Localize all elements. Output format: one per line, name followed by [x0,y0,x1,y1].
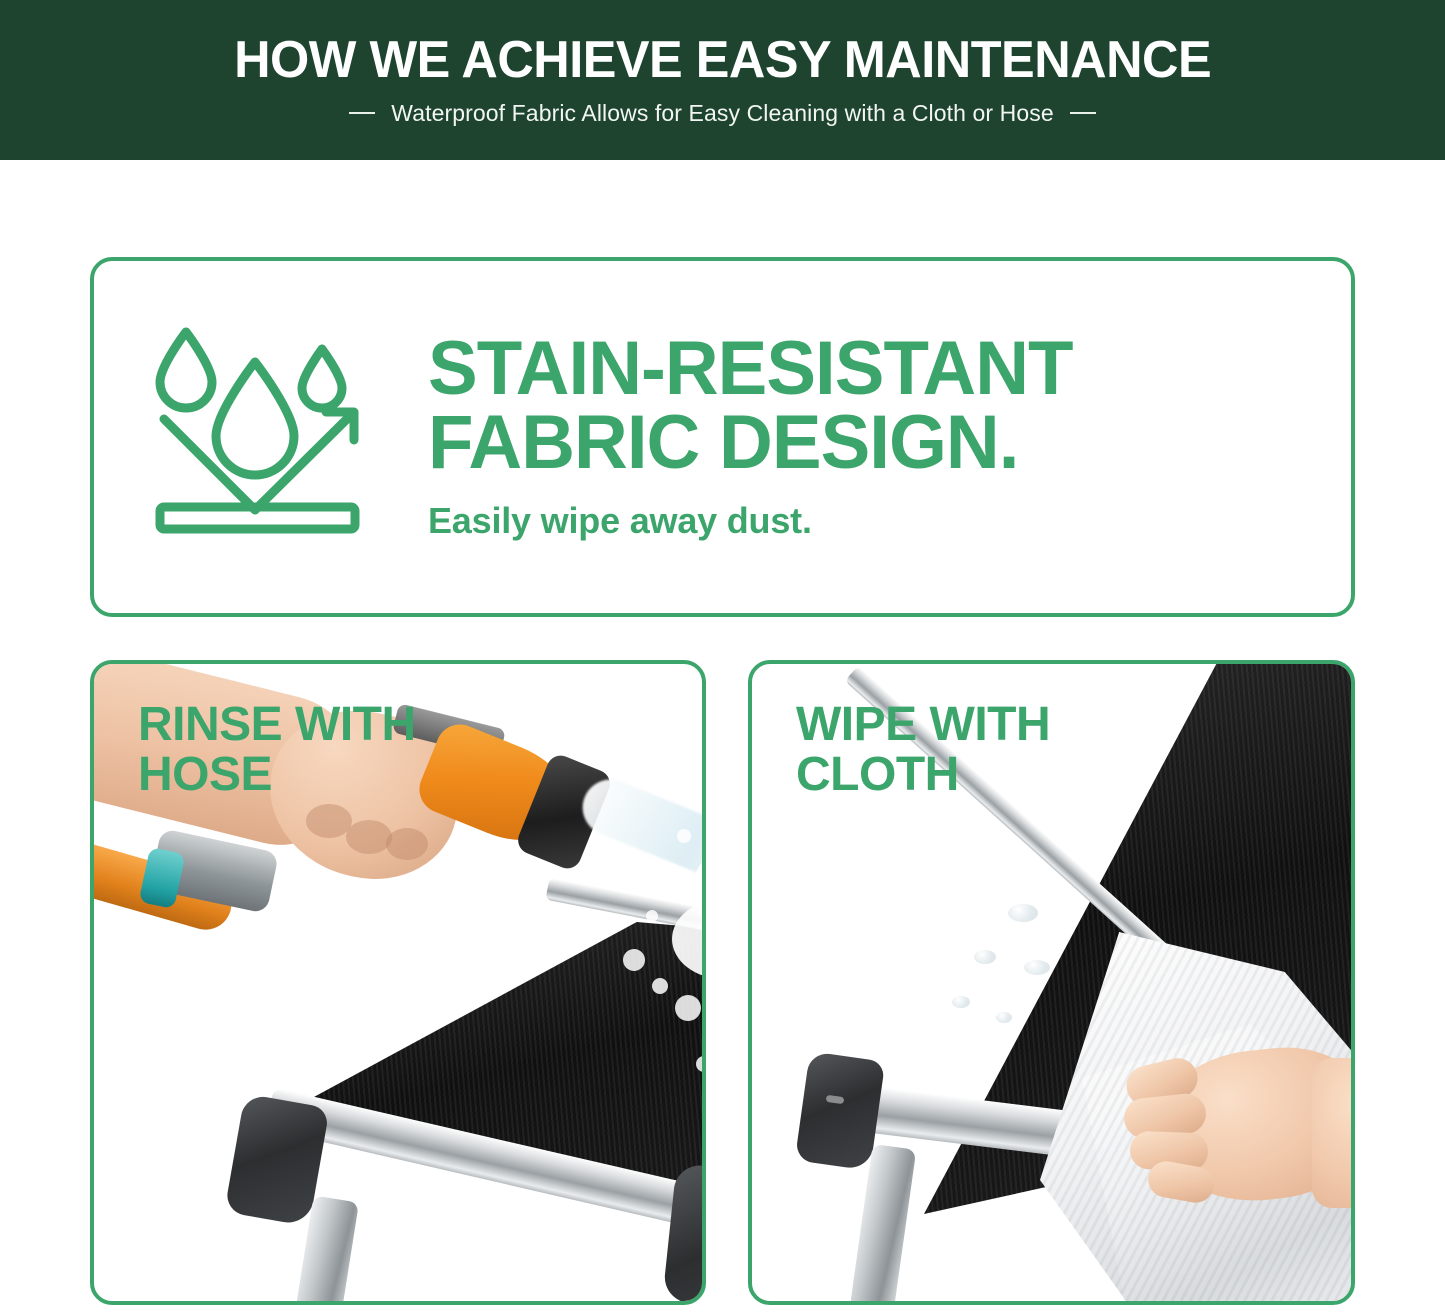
rinse-card: RINSE WITH HOSE [90,660,706,1305]
water-droplet [996,1012,1012,1023]
page-header: HOW WE ACHIEVE EASY MAINTENANCE Waterpro… [0,0,1445,160]
header-subtitle-row: Waterproof Fabric Allows for Easy Cleani… [349,100,1096,127]
feature-headline-line1: STAIN-RESISTANT [428,332,1073,406]
feature-card: STAIN-RESISTANT FABRIC DESIGN. Easily wi… [90,257,1355,617]
feature-text-block: STAIN-RESISTANT FABRIC DESIGN. Easily wi… [428,332,1086,543]
wipe-card: WIPE WITH CLOTH [748,660,1355,1305]
elevated-pet-bed-left [214,922,706,1305]
wipe-card-title: WIPE WITH CLOTH [796,700,1050,801]
knuckle-shade-3 [386,828,428,860]
dash-right-icon [1070,112,1096,114]
bed-leg-left [848,1144,917,1305]
water-droplet [1024,960,1050,975]
dash-left-icon [349,112,375,114]
knuckle-shade-1 [306,804,352,838]
feature-subheadline: Easily wipe away dust. [428,500,1086,542]
knuckle-shade-2 [346,820,392,854]
water-repellent-fabric-icon [142,322,392,552]
wrist [1312,1058,1355,1208]
water-droplet [952,996,970,1008]
page-title: HOW WE ACHIEVE EASY MAINTENANCE [234,34,1211,86]
water-droplet [974,950,996,964]
feature-card-content: STAIN-RESISTANT FABRIC DESIGN. Easily wi… [94,261,1351,613]
feature-headline-line2: FABRIC DESIGN. [428,406,1073,480]
water-droplet [1008,904,1038,922]
page-subtitle: Waterproof Fabric Allows for Easy Cleani… [391,100,1054,127]
rinse-card-title: RINSE WITH HOSE [138,700,416,801]
